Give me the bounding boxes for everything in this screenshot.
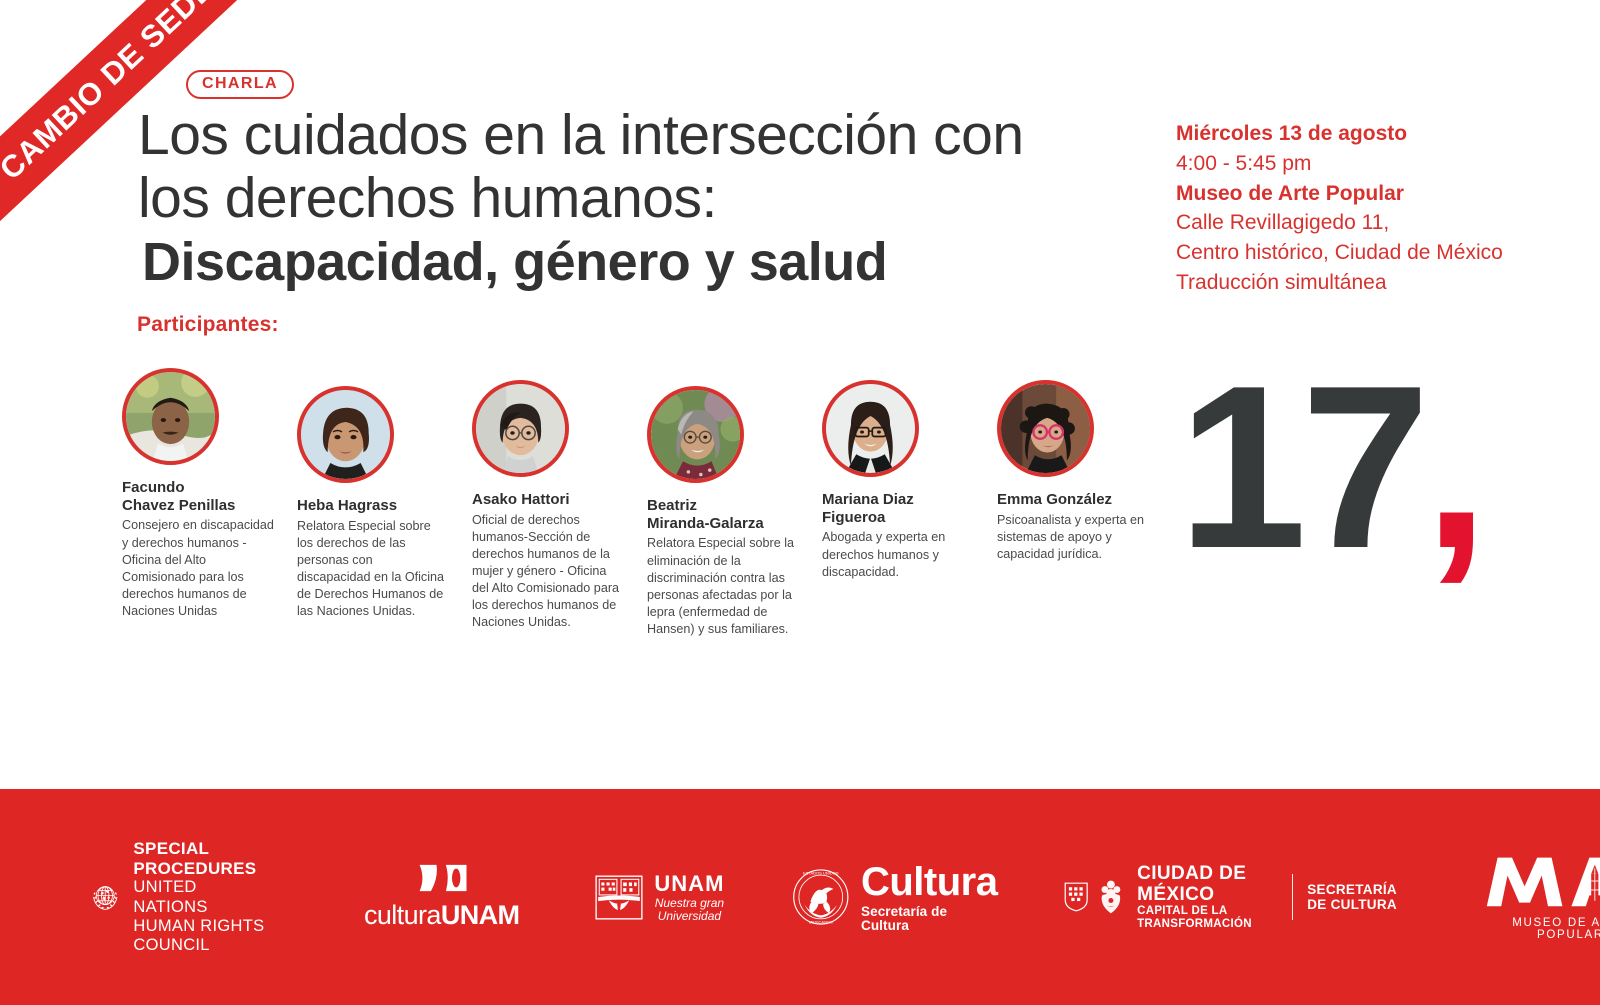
participant-name: Mariana DiazFigueroa <box>822 491 990 526</box>
event-translation-note: Traducción simultánea <box>1176 268 1576 298</box>
logo-cdmx-line-2: CAPITAL DE LA TRANSFORMACIÓN <box>1137 905 1278 931</box>
participants-heading: Participantes: <box>137 313 279 337</box>
logo-cdmx-sec-line-1: SECRETARÍA <box>1307 882 1397 897</box>
poster-canvas: CAMBIO DE SEDE CHARLA Los cuidados en la… <box>0 0 1600 1005</box>
portrait-beatriz-miranda-galarza-icon <box>651 390 740 479</box>
portrait-heba-hagrass-icon <box>301 390 390 479</box>
participant-card: Asako Hattori Oficial de derechos humano… <box>472 380 647 638</box>
participant-bio: Abogada y experta en derechos humanos y … <box>822 529 974 580</box>
participant-name: FacundoChavez Penillas <box>122 479 290 514</box>
avatar <box>472 380 569 477</box>
svg-text:ESTADOS UNIDOS: ESTADOS UNIDOS <box>803 871 839 876</box>
logo-map-subtitle: MUSEO DE ARTE POPULAR <box>1485 917 1600 941</box>
page-title: Los cuidados en la intersección con los … <box>138 104 1148 293</box>
event-details: Miércoles 13 de agosto 4:00 - 5:45 pm Mu… <box>1176 119 1576 298</box>
svg-text:MEXICANOS: MEXICANOS <box>809 919 833 924</box>
event-date: Miércoles 13 de agosto <box>1176 119 1576 149</box>
event-address-line-2: Centro histórico, Ciudad de México <box>1176 238 1576 268</box>
edition-number-digits: 17 <box>1178 338 1424 597</box>
participants-list: FacundoChavez Penillas Consejero en disc… <box>122 368 1182 638</box>
logo-cdmx-sec-line-2: DE CULTURA <box>1307 897 1397 912</box>
event-time: 4:00 - 5:45 pm <box>1176 149 1576 179</box>
avatar <box>997 380 1094 477</box>
avatar <box>297 386 394 483</box>
logo-un-line-1: SPECIAL PROCEDURES <box>133 839 274 878</box>
united-nations-emblem-icon <box>88 871 122 923</box>
event-venue: Museo de Arte Popular <box>1176 179 1576 209</box>
logo-unam-text: UNAM Nuestra gran Universidad <box>654 873 724 922</box>
logo-unam-line-1: UNAM <box>654 873 724 895</box>
logo-museo-de-arte-popular: MUSEO DE ARTE POPULAR <box>1485 854 1600 941</box>
title-line-2: los derechos humanos: <box>138 167 1148 230</box>
title-line-3-subtitle: Discapacidad, género y salud <box>138 233 1148 292</box>
logo-cultura-unam: culturaUNAM <box>364 863 519 931</box>
logo-cunam-light: cultura <box>364 900 441 930</box>
participant-bio: Psicoanalista y experta en sistemas de a… <box>997 512 1149 563</box>
participant-bio: Relatora Especial sobre la eliminación d… <box>647 535 799 638</box>
event-address-line-1: Calle Revillagigedo 11, <box>1176 208 1576 238</box>
participant-card: Mariana DiazFigueroa Abogada y experta e… <box>822 380 997 638</box>
logo-un-human-rights-council: SPECIAL PROCEDURES UNITED NATIONS HUMAN … <box>88 839 274 955</box>
participant-bio: Consejero en discapacidad y derechos hum… <box>122 517 274 620</box>
logo-cdmx-text: CIUDAD DE MÉXICO CAPITAL DE LA TRANSFORM… <box>1137 863 1278 931</box>
participant-name: Emma González <box>997 491 1165 509</box>
unam-shield-icon <box>593 871 645 923</box>
logo-cultura-line-2: Secretaría de Cultura <box>861 905 998 932</box>
portrait-emma-gonzalez-icon <box>1001 384 1090 473</box>
logo-unam: UNAM Nuestra gran Universidad <box>593 871 724 923</box>
avatar <box>822 380 919 477</box>
title-line-1: Los cuidados en la intersección con <box>138 104 1148 167</box>
participant-card: Heba Hagrass Relatora Especial sobre los… <box>297 386 472 638</box>
logo-ciudad-de-mexico: CIUDAD DE MÉXICO CAPITAL DE LA TRANSFORM… <box>1064 863 1397 931</box>
cdmx-emblem-icon <box>1096 871 1126 923</box>
avatar <box>647 386 744 483</box>
logo-cdmx-secretaria-text: SECRETARÍA DE CULTURA <box>1307 882 1397 913</box>
cdmx-shield-icon <box>1064 875 1088 919</box>
logo-unam-line-2: Nuestra gran <box>654 897 724 909</box>
participant-bio: Relatora Especial sobre los derechos de … <box>297 518 449 621</box>
participant-name: Asako Hattori <box>472 491 640 509</box>
logo-un-line-2: UNITED NATIONS <box>133 878 274 916</box>
charla-badge-label: CHARLA <box>202 75 278 92</box>
footer-bar: SPECIAL PROCEDURES UNITED NATIONS HUMAN … <box>0 789 1600 1005</box>
participant-card: Emma González Psicoanalista y experta en… <box>997 380 1172 638</box>
footer-logo-row: SPECIAL PROCEDURES UNITED NATIONS HUMAN … <box>0 789 1600 1005</box>
portrait-facundo-chavez-penillas-icon <box>126 372 215 461</box>
cultura-unam-mark-icon <box>414 863 470 893</box>
logo-cultura-unam-text: culturaUNAM <box>364 900 519 931</box>
logo-secretaria-de-cultura: ESTADOS UNIDOS MEXICANOS Cultura Secreta… <box>792 862 998 932</box>
edition-number: 17, <box>1178 352 1483 584</box>
participant-card: BeatrizMiranda-Galarza Relatora Especial… <box>647 386 822 638</box>
portrait-asako-hattori-icon <box>476 384 565 473</box>
portrait-mariana-diaz-figueroa-icon <box>826 384 915 473</box>
charla-badge: CHARLA <box>186 70 294 99</box>
logo-cdmx-line-1: CIUDAD DE MÉXICO <box>1137 863 1278 906</box>
logo-un-line-3: HUMAN RIGHTS COUNCIL <box>133 917 274 955</box>
map-wordmark-icon <box>1485 854 1600 908</box>
participant-card: FacundoChavez Penillas Consejero en disc… <box>122 368 297 638</box>
logo-divider <box>1292 874 1293 920</box>
logo-cultura-text: Cultura Secretaría de Cultura <box>861 862 998 932</box>
logo-un-text: SPECIAL PROCEDURES UNITED NATIONS HUMAN … <box>133 839 274 955</box>
edition-number-comma: , <box>1424 338 1482 597</box>
logo-cunam-bold: UNAM <box>441 900 520 930</box>
mexico-national-seal-icon: ESTADOS UNIDOS MEXICANOS <box>792 868 850 926</box>
logo-cultura-line-1: Cultura <box>861 862 998 902</box>
avatar <box>122 368 219 465</box>
participant-name: BeatrizMiranda-Galarza <box>647 497 815 532</box>
participant-name: Heba Hagrass <box>297 497 465 515</box>
logo-unam-line-3: Universidad <box>654 910 724 922</box>
participant-bio: Oficial de derechos humanos-Sección de d… <box>472 512 624 632</box>
